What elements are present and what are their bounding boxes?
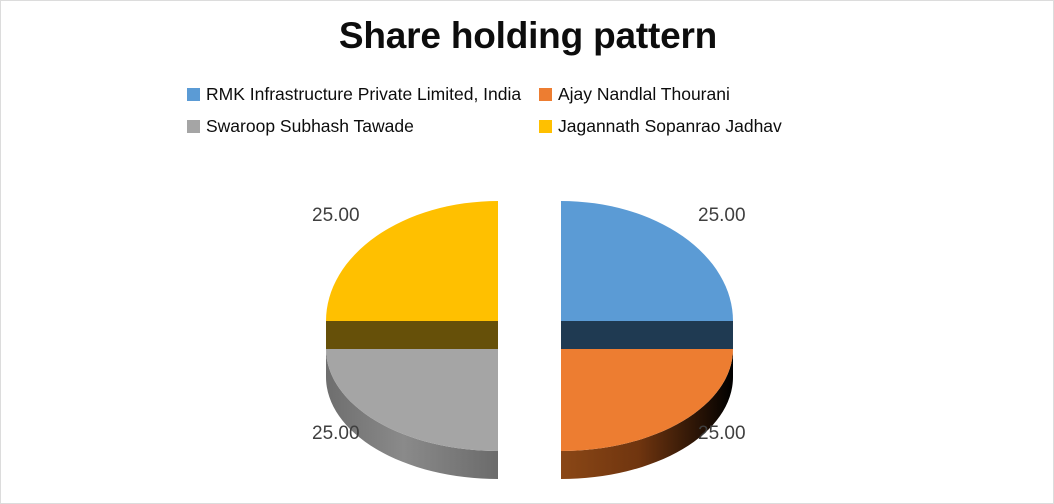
legend-item-label: Ajay Nandlal Thourani bbox=[558, 84, 730, 105]
legend-item-swaroop-subhash-tawade[interactable]: Swaroop Subhash Tawade bbox=[187, 115, 539, 137]
legend-swatch-square-icon bbox=[539, 88, 552, 101]
legend-swatch-square-icon bbox=[187, 88, 200, 101]
legend-swatch-square-icon bbox=[539, 120, 552, 133]
legend-item-rmk-infrastructure[interactable]: RMK Infrastructure Private Limited, Indi… bbox=[187, 83, 539, 105]
pie-data-label-rmk-infrastructure: 25.00 bbox=[698, 205, 746, 227]
pie-slice-side-ajay-nandlal-thourani bbox=[561, 349, 733, 479]
pie-data-label-ajay-nandlal-thourani: 25.00 bbox=[698, 423, 746, 445]
pie-slice-side-jagannath-sopanrao-jadhav bbox=[326, 321, 498, 349]
pie-slice-side-rmk-infrastructure bbox=[561, 321, 733, 349]
pie-slice-top-rmk-infrastructure bbox=[561, 201, 733, 321]
chart-title: Share holding pattern bbox=[1, 15, 1054, 57]
legend-swatch-square-icon bbox=[187, 120, 200, 133]
pie-slice-top-jagannath-sopanrao-jadhav bbox=[326, 201, 498, 321]
pie-data-label-jagannath-sopanrao-jadhav: 25.00 bbox=[312, 205, 360, 227]
chart-container: Share holding pattern RMK Infrastructure… bbox=[0, 0, 1054, 504]
legend-row: Swaroop Subhash Tawade Jagannath Sopanra… bbox=[187, 115, 827, 147]
legend-row: RMK Infrastructure Private Limited, Indi… bbox=[187, 83, 827, 115]
legend-item-ajay-nandlal-thourani[interactable]: Ajay Nandlal Thourani bbox=[539, 83, 819, 105]
legend-item-label: Swaroop Subhash Tawade bbox=[206, 116, 414, 137]
pie-data-label-swaroop-subhash-tawade: 25.00 bbox=[312, 423, 360, 445]
pie-chart-graphic: 25.00 25.00 25.00 25.00 bbox=[1, 1, 1054, 504]
chart-legend: RMK Infrastructure Private Limited, Indi… bbox=[187, 83, 827, 147]
legend-item-jagannath-sopanrao-jadhav[interactable]: Jagannath Sopanrao Jadhav bbox=[539, 115, 819, 137]
legend-item-label: RMK Infrastructure Private Limited, Indi… bbox=[206, 84, 521, 105]
pie-slice-top-swaroop-subhash-tawade bbox=[326, 349, 498, 451]
pie-slice-top-ajay-nandlal-thourani bbox=[561, 349, 733, 451]
legend-item-label: Jagannath Sopanrao Jadhav bbox=[558, 116, 782, 137]
pie-svg bbox=[1, 1, 1054, 504]
pie-slice-side-swaroop-subhash-tawade bbox=[326, 349, 498, 479]
pie-right-half bbox=[561, 201, 733, 479]
pie-left-half bbox=[326, 201, 498, 479]
